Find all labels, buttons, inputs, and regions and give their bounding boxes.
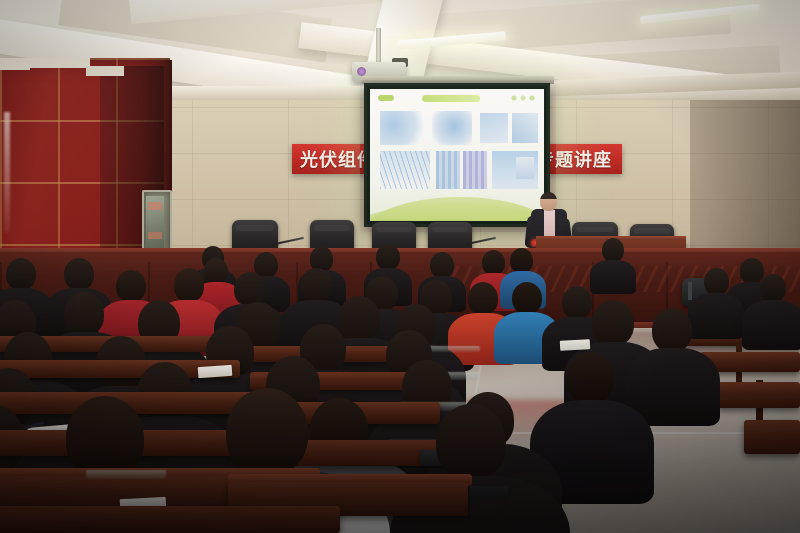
bench-row	[716, 382, 800, 408]
backpack-strap	[688, 282, 692, 300]
desk-surface	[424, 346, 480, 352]
ceiling-notch	[86, 66, 124, 76]
slide-image-crystal-silicon	[380, 111, 424, 145]
ceiling-notch	[28, 58, 90, 68]
slide-swoosh-front	[370, 197, 544, 221]
solar-farm-rays	[380, 151, 430, 189]
slide-dot-decoration	[510, 95, 536, 102]
slide-image-mono-cell	[463, 151, 487, 189]
slide-accent-square	[378, 95, 394, 101]
slide-image-panel-fan	[492, 151, 538, 189]
slide-title-bar	[422, 95, 480, 102]
red-column-highlight	[4, 112, 10, 232]
slide-image-wafer-edge	[512, 113, 538, 143]
paper-sheet	[198, 365, 233, 378]
ceiling-notch	[0, 58, 30, 70]
paper-sheet	[560, 339, 590, 351]
cabinet-label	[148, 202, 162, 210]
slide-image-poly-cell	[436, 151, 460, 189]
bench-row	[0, 506, 340, 533]
tablet-device	[470, 486, 508, 500]
presentation-slide	[370, 89, 544, 221]
slide-image-wafer-process	[432, 111, 472, 145]
slide-image-stacked-wafers	[480, 113, 508, 143]
panel-block	[516, 157, 534, 179]
cabinet-label	[148, 232, 162, 239]
slide-image-solar-farm	[380, 151, 430, 189]
desk-surface	[86, 470, 166, 479]
speaker-head	[540, 192, 557, 211]
auditorium-lecture-photo: 光伏组件 专题讲座	[0, 0, 800, 533]
bench-row	[744, 420, 800, 454]
projector-lens-icon	[357, 67, 366, 76]
